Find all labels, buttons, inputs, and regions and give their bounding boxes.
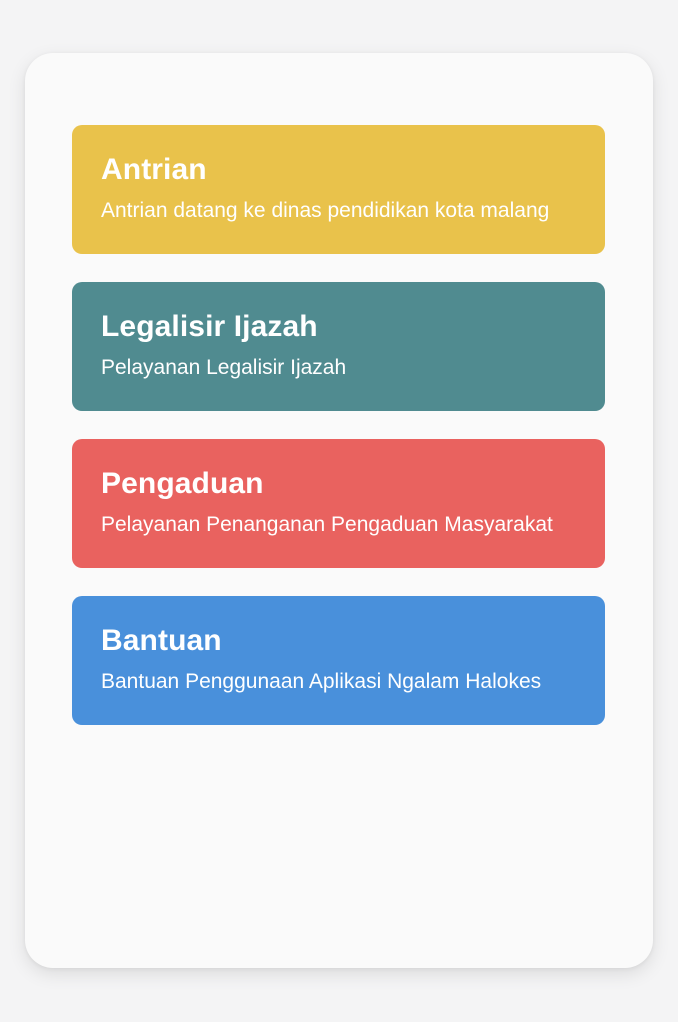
- service-card-bantuan[interactable]: Bantuan Bantuan Penggunaan Aplikasi Ngal…: [72, 596, 605, 725]
- service-card-pengaduan[interactable]: Pengaduan Pelayanan Penanganan Pengaduan…: [72, 439, 605, 568]
- app-screen: Antrian Antrian datang ke dinas pendidik…: [0, 0, 678, 1022]
- service-card-title: Bantuan: [101, 622, 576, 660]
- service-card-antrian[interactable]: Antrian Antrian datang ke dinas pendidik…: [72, 125, 605, 254]
- service-card-description: Antrian datang ke dinas pendidikan kota …: [101, 191, 553, 230]
- service-menu-panel: Antrian Antrian datang ke dinas pendidik…: [25, 53, 653, 968]
- service-menu-list: Antrian Antrian datang ke dinas pendidik…: [72, 125, 605, 725]
- service-card-description: Bantuan Penggunaan Aplikasi Ngalam Halok…: [101, 662, 553, 701]
- service-card-description: Pelayanan Penanganan Pengaduan Masyaraka…: [101, 505, 553, 544]
- service-card-title: Antrian: [101, 151, 576, 189]
- service-card-title: Legalisir Ijazah: [101, 308, 576, 346]
- service-card-description: Pelayanan Legalisir Ijazah: [101, 348, 553, 387]
- service-card-title: Pengaduan: [101, 465, 576, 503]
- service-card-legalisir-ijazah[interactable]: Legalisir Ijazah Pelayanan Legalisir Ija…: [72, 282, 605, 411]
